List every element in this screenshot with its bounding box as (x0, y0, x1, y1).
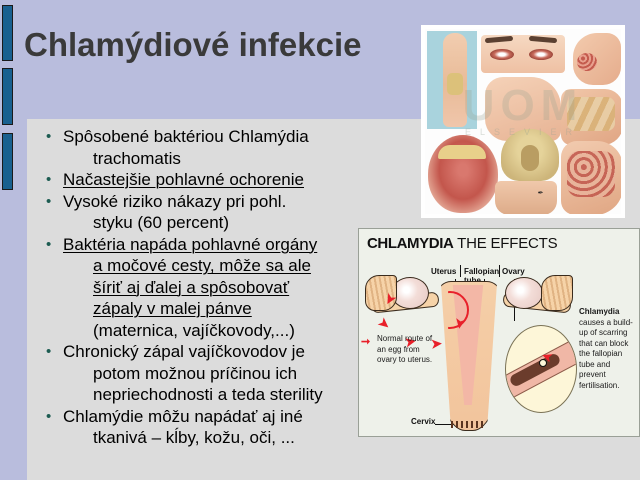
foot-lesions-illustration (561, 141, 621, 214)
list-item: • Načastejšie pohlavné ochorenie (46, 169, 366, 191)
bullet-dot-icon: • (46, 341, 63, 363)
list-item: • Vysoké riziko nákazy pri pohl. styku (… (46, 191, 366, 234)
diagram-title: CHLAMYDIA THE EFFECTS (367, 235, 557, 252)
fallopian-tube-left: ➤ ➤ ➤ ➤ (365, 273, 443, 329)
cervix-illustration (451, 421, 485, 428)
list-item-text: Chlamýdie môžu napádať aj iné tkanivá – … (63, 406, 366, 449)
list-item-line: (maternica, vajíčkovody,...) (63, 320, 366, 342)
flow-arrow-icon: ➤ (453, 317, 468, 330)
slide-title: Chlamýdiové infekcie (24, 26, 361, 64)
list-item-line: Chronický zápal vajíčkovodov je (63, 342, 305, 361)
bullet-dot-icon: • (46, 169, 63, 191)
list-item: • Chlamýdie môžu napádať aj iné tkanivá … (46, 406, 366, 449)
chlamydia-effect-note: Chlamydia causes a build-up of scarring … (579, 307, 637, 391)
accent-bar-1 (2, 5, 13, 61)
list-item-line: Načastejšie pohlavné ochorenie (63, 170, 304, 189)
label-divider-1 (460, 265, 461, 277)
list-item-text: Chronický zápal vajíčkovodov je potom mo… (63, 341, 366, 406)
accent-bar-2 (2, 68, 13, 125)
chlamydia-effects-diagram: CHLAMYDIA THE EFFECTS Uterus Fallopian t… (358, 228, 640, 437)
fallopian-tube-right (497, 273, 575, 329)
list-item-text: Načastejšie pohlavné ochorenie (63, 169, 366, 191)
list-item-text: Vysoké riziko nákazy pri pohl. styku (60… (63, 191, 366, 234)
list-item-line: tkanivá – kĺby, kožu, oči, ... (63, 427, 366, 449)
scarring-inset-illustration: ➤ (505, 325, 577, 413)
list-item-line: potom možnou príčinou ich (63, 363, 366, 385)
list-item: • Chronický zápal vajíčkovodov je potom … (46, 341, 366, 406)
diagram-title-bold: CHLAMYDIA (367, 235, 453, 252)
blocked-egg-marker (539, 359, 547, 367)
list-item-line: Baktéria napáda pohlavné orgány (63, 235, 317, 254)
ovary-right (505, 277, 543, 309)
fimbria-right (541, 275, 573, 311)
slide-canvas: Chlamýdiové infekcie • Spôsobené baktéri… (0, 0, 640, 480)
legend-arrow-icon: ➞ (361, 335, 370, 348)
list-item-line: Vysoké riziko nákazy pri pohl. (63, 192, 286, 211)
list-item-line: zápaly v malej pánve (63, 298, 366, 320)
list-item-line: šíriť aj ďalej a spôsobovať (63, 277, 366, 299)
bullet-dot-icon: • (46, 126, 63, 148)
list-item: • Spôsobené baktériou Chlamýdia trachoma… (46, 126, 366, 169)
oral-cavity-illustration (428, 135, 498, 213)
legend-normal-route-text: Normal route of an egg from ovary to ute… (377, 334, 435, 366)
collage-inner: UOM ELSEVIER ✒ (425, 29, 621, 214)
genital-lesion-illustration (573, 33, 621, 85)
list-item-line: styku (60 percent) (63, 212, 366, 234)
list-item-line: Chlamýdie môžu napádať aj iné (63, 407, 303, 426)
pelvis-bone-illustration (501, 129, 559, 181)
bullet-dot-icon: • (46, 234, 63, 256)
flow-arrow-icon: ➤ (376, 315, 393, 332)
label-cervix: Cervix (411, 417, 435, 426)
artist-signature: ✒ (537, 189, 543, 197)
fingernails-illustration (561, 89, 621, 145)
list-item-line: Spôsobené baktériou Chlamýdia (63, 127, 309, 146)
bullet-dot-icon: • (46, 191, 63, 213)
list-item-text: Baktéria napáda pohlavné orgány a močové… (63, 234, 366, 342)
diagram-title-rest: THE EFFECTS (453, 235, 557, 252)
ankles-illustration (495, 181, 557, 214)
list-item-text: Spôsobené baktériou Chlamýdia trachomati… (63, 126, 366, 169)
list-item: • Baktéria napáda pohlavné orgány a močo… (46, 234, 366, 342)
bullet-list: • Spôsobené baktériou Chlamýdia trachoma… (46, 126, 366, 449)
label-fallopian-line1: Fallopian (464, 267, 499, 276)
male-figure-illustration (443, 33, 467, 127)
bullet-dot-icon: • (46, 406, 63, 428)
list-item-line: a močové cesty, môže sa ale (63, 255, 366, 277)
medical-collage-image: UOM ELSEVIER ✒ (421, 25, 625, 218)
chlamydia-note-title: Chlamydia (579, 307, 619, 316)
accent-bar-3 (2, 133, 13, 190)
list-item-line: nepriechodnosti a teda sterility (63, 384, 366, 406)
list-item-line: trachomatis (63, 148, 366, 170)
chlamydia-note-body: causes a build-up of scarring that can b… (579, 318, 633, 390)
